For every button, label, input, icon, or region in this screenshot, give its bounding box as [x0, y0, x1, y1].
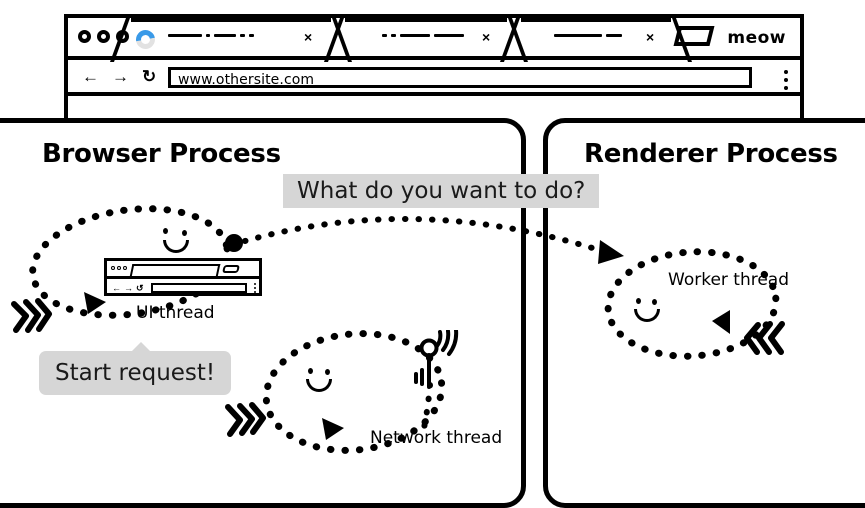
motion-lines-ui-thread: [8, 298, 54, 343]
new-tab-button[interactable]: [674, 26, 715, 46]
wifi-antenna-icon: [412, 330, 472, 400]
mini-tab: [130, 264, 221, 277]
brand-label: meow: [727, 28, 786, 48]
back-icon[interactable]: ←: [82, 68, 99, 86]
diagram-canvas: × × ×: [0, 0, 865, 504]
tab-close-icon[interactable]: ×: [646, 30, 654, 44]
browser-window: × × ×: [64, 14, 804, 124]
ui-thread-browser-icon: ←→↺: [104, 258, 262, 296]
tab-close-icon[interactable]: ×: [304, 30, 312, 44]
browser-menu-icon[interactable]: [784, 70, 788, 94]
tab-top-edge: [345, 18, 507, 22]
mini-tabstrip: [107, 261, 259, 279]
mini-new-tab-icon: [222, 265, 240, 273]
address-bar[interactable]: www.othersite.com: [168, 67, 752, 88]
browser-navbar: ← → ↻ www.othersite.com: [68, 60, 800, 96]
address-bar-value: www.othersite.com: [178, 72, 314, 88]
motion-lines-network-thread: [222, 402, 268, 447]
start-request-callout: Start request!: [39, 351, 231, 395]
motion-lines-worker-thread: [742, 320, 788, 365]
renderer-process-title: Renderer Process: [584, 139, 838, 169]
tab-close-icon[interactable]: ×: [482, 30, 490, 44]
question-callout: What do you want to do?: [283, 174, 599, 208]
browser-tab[interactable]: ×: [126, 18, 336, 56]
browser-tab[interactable]: ×: [516, 18, 676, 56]
tab-top-edge: [131, 18, 331, 22]
forward-icon[interactable]: →: [112, 68, 129, 86]
mini-menu-icon: [254, 283, 256, 295]
window-close-icon[interactable]: [78, 30, 91, 43]
mini-address-bar: [151, 283, 247, 293]
browser-tabstrip: × × ×: [68, 18, 800, 60]
ui-thread-label: UI thread: [136, 303, 215, 323]
worker-thread-label: Worker thread: [668, 270, 789, 290]
network-thread-label: Network thread: [370, 428, 502, 448]
mini-nav-icons: ←→↺: [112, 283, 147, 293]
tab-top-edge: [521, 18, 671, 22]
callout-tail: [131, 342, 151, 352]
window-minimize-icon[interactable]: [97, 30, 110, 43]
start-request-label: Start request!: [55, 360, 215, 386]
browser-process-title: Browser Process: [42, 139, 281, 169]
browser-tab[interactable]: ×: [340, 18, 512, 56]
reload-icon[interactable]: ↻: [142, 68, 156, 86]
mini-window-controls: [111, 266, 127, 270]
